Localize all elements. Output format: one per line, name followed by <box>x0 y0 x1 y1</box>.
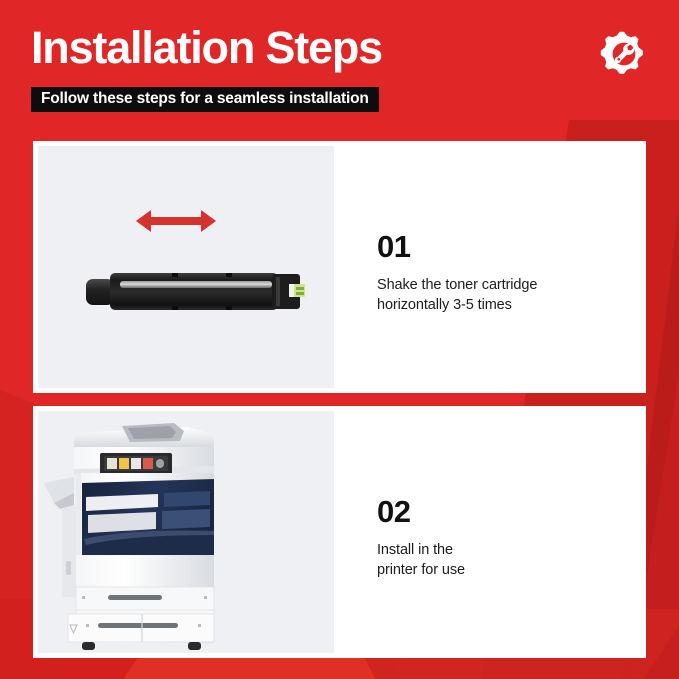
horizontal-double-arrow-icon <box>136 208 216 234</box>
step-card: 02 Install in the printer for use <box>33 406 646 658</box>
multifunction-printer-illustration <box>38 411 334 653</box>
gear-wrench-icon <box>600 30 648 78</box>
header: Installation Steps Follow these steps fo… <box>0 0 679 130</box>
toner-cartridge-shake-illustration <box>38 146 334 388</box>
step-description: Install in the printer for use <box>377 540 617 580</box>
step-number-label: 02 <box>377 494 410 529</box>
step-text-pane: 01 Shake the toner cartridge horizontall… <box>334 141 646 393</box>
printer-graphic <box>38 411 334 653</box>
step-number: 02 <box>377 496 410 528</box>
step-card: 01 Shake the toner cartridge horizontall… <box>33 141 646 393</box>
step-text-pane: 02 Install in the printer for use <box>334 406 646 658</box>
page-title: Installation Steps <box>31 22 382 74</box>
step-number: 01 <box>377 231 410 263</box>
subtitle-banner: Follow these steps for a seamless instal… <box>31 87 379 112</box>
toner-cartridge-graphic <box>86 268 312 308</box>
step-number-label: 01 <box>377 229 410 264</box>
installation-steps-infographic: Installation Steps Follow these steps fo… <box>0 0 679 679</box>
step-description: Shake the toner cartridge horizontally 3… <box>377 275 617 315</box>
